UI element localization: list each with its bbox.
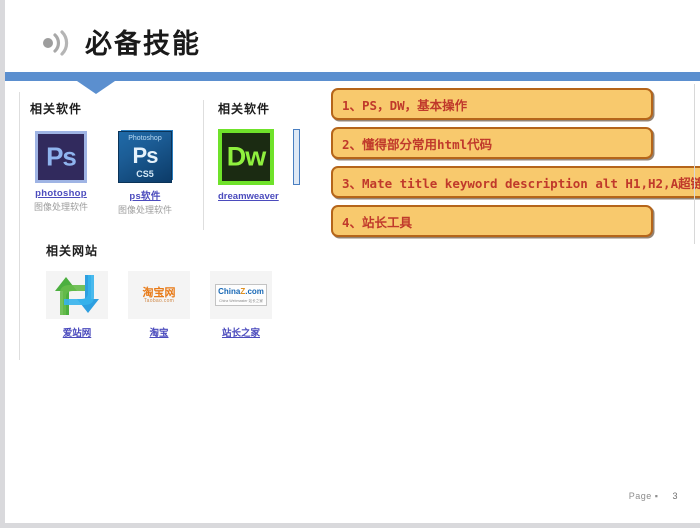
software-section-a: 相关软件 Ps photoshop 图像处理软件 Photoshop Ps CS… — [30, 100, 190, 216]
dreamweaver-icon: Dw — [218, 129, 274, 185]
skill-item-1-label: 1、PS，DW，基本操作 — [342, 95, 467, 114]
website-link-taobao[interactable]: 淘宝 — [128, 325, 190, 339]
section-heading-websites: 相关网站 — [46, 242, 296, 259]
aizhan-logo-icon — [46, 271, 108, 319]
right-edge-divider — [694, 84, 695, 244]
chinaz-thumbnail: ChinaZ.com Chinz Webmaster 站长之家 — [210, 271, 272, 319]
ps-box-icon-mid-label: Ps — [119, 143, 171, 169]
title-divider-bar — [5, 72, 700, 81]
photoshop-flat-icon-label: Ps — [38, 142, 84, 173]
software-desc-photoshop: 图像处理软件 — [30, 202, 92, 213]
software-item-photoshop[interactable]: Ps photoshop 图像处理软件 — [30, 131, 92, 216]
software-icon-row-b: Dw dreamweaver — [218, 129, 343, 202]
skill-item-2[interactable]: 2、懂得部分常用html代码 — [331, 127, 653, 159]
page-title: 必备技能 — [85, 22, 201, 61]
software-item-ps-cs5[interactable]: Photoshop Ps CS5 ps软件 图像处理软件 — [114, 131, 176, 216]
website-icon-row: 爱站网 淘宝网 Taobao.com 淘宝 ChinaZ.com — [46, 271, 296, 339]
slide-title-zone: 必备技能 — [5, 0, 700, 70]
ps-box-icon-top-label: Photoshop — [119, 135, 171, 142]
software-link-ps-cs5[interactable]: ps软件 — [114, 188, 176, 202]
taobao-logo-icon: 淘宝网 Taobao.com — [128, 271, 190, 319]
ps-box-icon-bottom-label: CS5 — [119, 169, 171, 179]
skill-item-3-label: 3、Mate title keyword description alt H1,… — [342, 173, 700, 192]
chinaz-logo-suffix: .com — [245, 287, 264, 296]
left-content-panel: 相关软件 Ps photoshop 图像处理软件 Photoshop Ps CS… — [19, 92, 319, 360]
website-link-aizhan[interactable]: 爱站网 — [46, 325, 108, 339]
software-link-dreamweaver[interactable]: dreamweaver — [218, 191, 279, 202]
skill-item-2-label: 2、懂得部分常用html代码 — [342, 134, 492, 153]
dreamweaver-icon-label: Dw — [222, 142, 270, 173]
skill-item-4-label: 4、站长工具 — [342, 212, 412, 231]
software-link-photoshop[interactable]: photoshop — [30, 188, 92, 199]
skill-item-1[interactable]: 1、PS，DW，基本操作 — [331, 88, 653, 120]
slide-canvas: 必备技能 相关软件 Ps photoshop 图像处理软件 Photoshop — [0, 0, 700, 528]
software-section-b: 相关软件 Dw dreamweaver — [203, 100, 343, 230]
footer-page-number: 3 — [672, 491, 678, 501]
photoshop-cs5-box-icon: Photoshop Ps CS5 — [118, 131, 172, 183]
website-item-aizhan[interactable]: 爱站网 — [46, 271, 108, 339]
chinaz-logo-main: China — [218, 287, 240, 296]
software-icon-row-a: Ps photoshop 图像处理软件 Photoshop Ps CS5 ps软… — [30, 131, 190, 216]
website-link-chinaz[interactable]: 站长之家 — [210, 325, 272, 339]
footer-page-label: Page ▪ — [629, 491, 659, 501]
chinaz-logo-icon: ChinaZ.com Chinz Webmaster 站长之家 — [215, 284, 267, 306]
skill-item-3[interactable]: 3、Mate title keyword description alt H1,… — [331, 166, 700, 198]
software-desc-ps-cs5: 图像处理软件 — [114, 205, 176, 216]
section-heading-software-b: 相关软件 — [218, 100, 343, 117]
software-item-dreamweaver[interactable]: Dw dreamweaver — [218, 129, 279, 202]
website-item-chinaz[interactable]: ChinaZ.com Chinz Webmaster 站长之家 站长之家 — [210, 271, 272, 339]
section-heading-software-a: 相关软件 — [30, 100, 190, 117]
skills-list-panel: 1、PS，DW，基本操作 2、懂得部分常用html代码 3、Mate title… — [331, 88, 700, 244]
aizhan-thumbnail — [46, 271, 108, 319]
chinaz-logo-text: ChinaZ.com — [216, 287, 266, 296]
slide-footer: Page ▪ 3 — [629, 491, 678, 501]
skill-item-4[interactable]: 4、站长工具 — [331, 205, 653, 237]
chinaz-logo-sub: Chinz Webmaster 站长之家 — [216, 299, 266, 304]
website-item-taobao[interactable]: 淘宝网 Taobao.com 淘宝 — [128, 271, 190, 339]
photoshop-flat-icon: Ps — [35, 131, 87, 183]
taobao-logo-en: Taobao.com — [128, 298, 190, 304]
websites-section: 相关网站 爱站网 淘宝网 — [46, 242, 296, 339]
sound-wave-icon — [41, 30, 77, 56]
vertical-scrollbar[interactable] — [293, 129, 300, 185]
